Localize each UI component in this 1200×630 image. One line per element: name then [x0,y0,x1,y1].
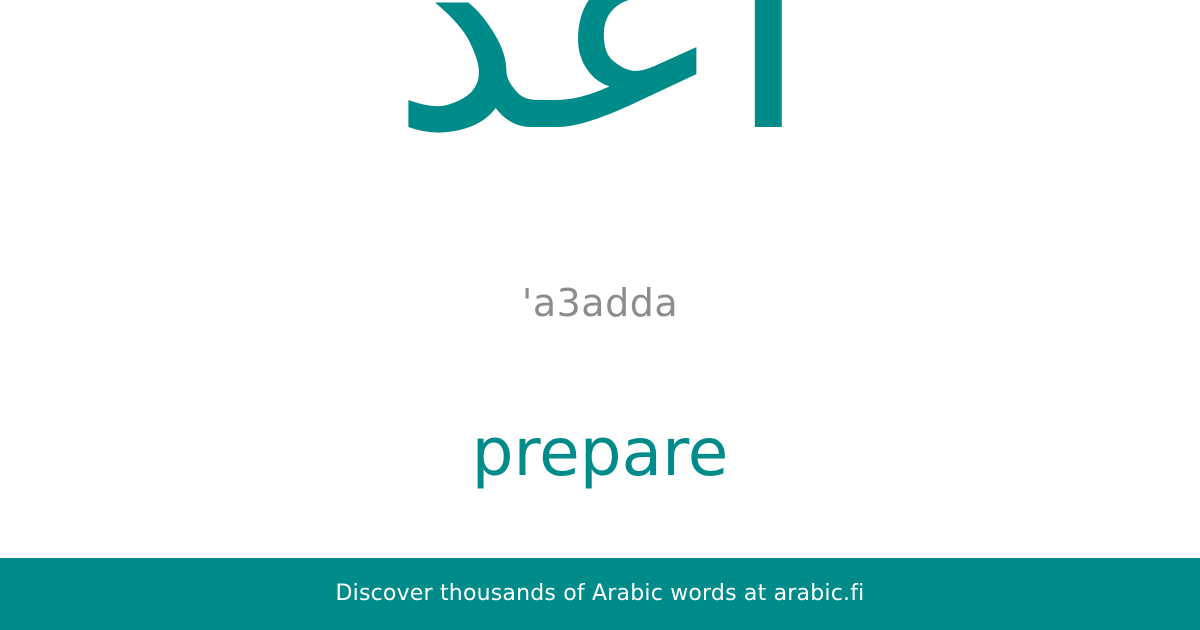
arabic-headword: أَعَدَّ [0,0,1200,174]
word-preview-card: أَعَدَّ 'a3adda prepare Discover thousan… [0,0,1200,630]
translation-row: prepare [0,413,1200,493]
transliteration-row: 'a3adda [0,278,1200,328]
transliteration-text: 'a3adda [522,278,678,328]
footer-bar: Discover thousands of Arabic words at ar… [0,558,1200,630]
english-translation-text: prepare [472,413,729,493]
footer-tagline: Discover thousands of Arabic words at ar… [336,579,865,609]
arabic-headword-area: أَعَدَّ [0,0,1200,250]
